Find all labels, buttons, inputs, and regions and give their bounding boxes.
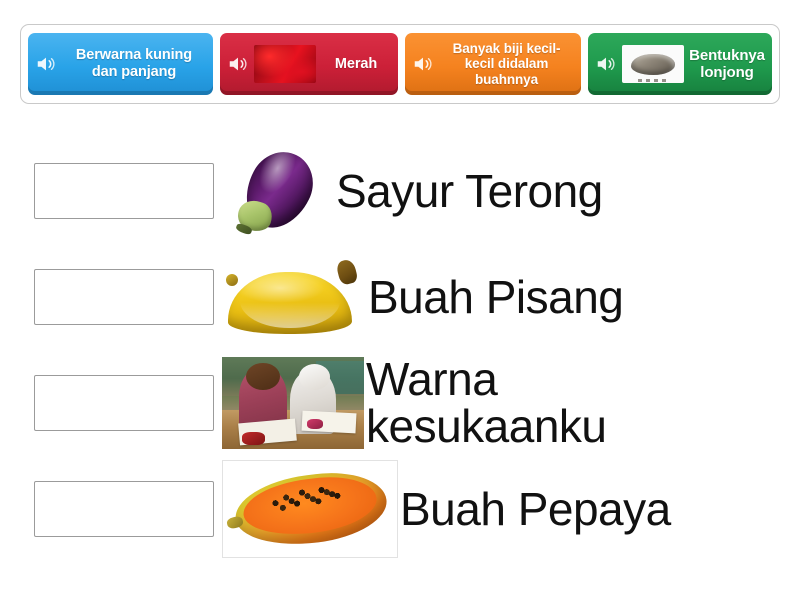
- answer-cards-tray: Berwarna kuning dan panjang Merah Banyak…: [20, 24, 780, 104]
- oval-shape-image: [622, 45, 684, 83]
- banana-tip: [226, 274, 238, 286]
- row-content: Sayur Terong: [222, 138, 603, 244]
- row-label-buah-pisang: Buah Pisang: [368, 274, 623, 321]
- match-row: Buah Pepaya: [0, 456, 800, 562]
- eggplant-image: [222, 143, 332, 239]
- row-content: Warna kesukaanku: [222, 350, 607, 456]
- quiz-stage: Berwarna kuning dan panjang Merah Banyak…: [0, 0, 800, 600]
- answer-card-bentuknya-lonjong[interactable]: Bentuknya lonjong: [588, 33, 772, 95]
- papaya-image: [222, 460, 398, 558]
- oval-graphic: [631, 54, 675, 75]
- match-row: Buah Pisang: [0, 244, 800, 350]
- row-label-buah-pepaya: Buah Pepaya: [400, 486, 671, 533]
- answer-card-berwarna-kuning-dan-panjang[interactable]: Berwarna kuning dan panjang: [28, 33, 213, 95]
- match-rows: Sayur Terong Buah Pisang: [0, 138, 800, 562]
- dropbox-buah-pepaya[interactable]: [34, 481, 214, 537]
- answer-card-banyak-biji[interactable]: Banyak biji kecil-kecil didalam buahnnya: [405, 33, 581, 95]
- photo-crayon-left: [242, 432, 265, 445]
- children-coloring-photo: [222, 357, 364, 449]
- photo-crayon-right: [307, 419, 323, 429]
- dropbox-warna-kesukaanku[interactable]: [34, 375, 214, 431]
- answer-card-label: Banyak biji kecil-kecil didalam buahnnya: [439, 41, 574, 88]
- row-label-sayur-terong: Sayur Terong: [336, 168, 603, 215]
- answer-card-merah[interactable]: Merah: [220, 33, 398, 95]
- banana-stem: [335, 258, 358, 286]
- match-row: Warna kesukaanku: [0, 350, 800, 456]
- row-content: Buah Pisang: [222, 244, 623, 350]
- answer-card-label: Berwarna kuning dan panjang: [62, 47, 206, 80]
- answer-card-label: Bentuknya lonjong: [689, 47, 765, 82]
- row-label-warna-kesukaanku: Warna kesukaanku: [366, 356, 607, 450]
- photo-child-right-head: [299, 364, 330, 390]
- speaker-icon[interactable]: [227, 53, 249, 75]
- row-content: Buah Pepaya: [222, 456, 671, 562]
- speaker-icon[interactable]: [595, 53, 617, 75]
- match-row: Sayur Terong: [0, 138, 800, 244]
- red-color-swatch-image: [254, 45, 316, 83]
- speaker-icon[interactable]: [412, 53, 434, 75]
- dropbox-sayur-terong[interactable]: [34, 163, 214, 219]
- speaker-icon[interactable]: [35, 53, 57, 75]
- answer-card-label: Merah: [321, 56, 391, 73]
- dropbox-buah-pisang[interactable]: [34, 269, 214, 325]
- photo-child-left-head: [246, 363, 280, 391]
- banana-image: [222, 254, 362, 340]
